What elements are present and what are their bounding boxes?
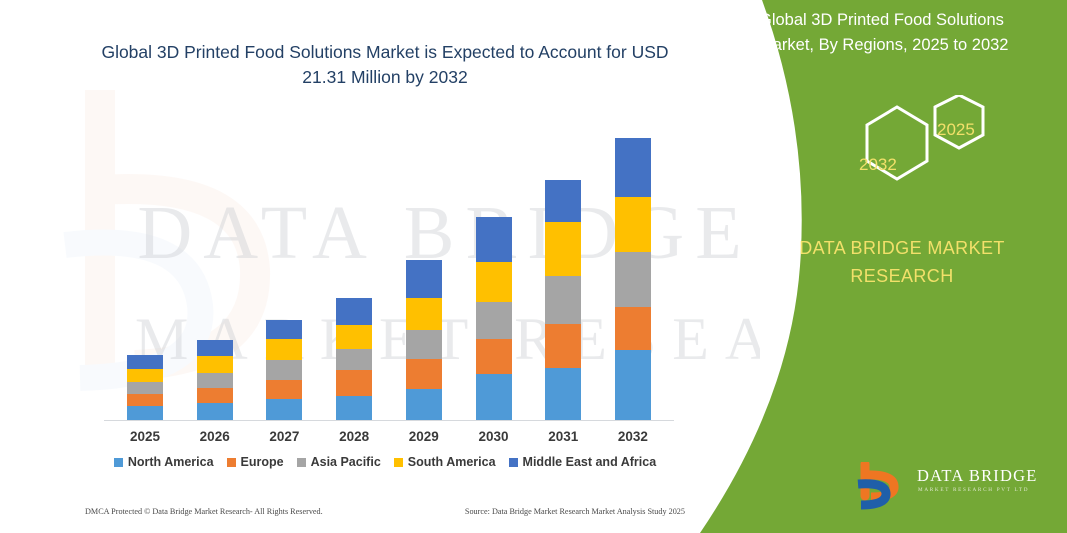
panel-content: Global 3D Printed Food Solutions Market,… <box>737 0 1067 533</box>
chart-panel: DATA BRIDGE MARKET RESEARCH Global 3D Pr… <box>0 0 760 533</box>
bar-segment-europe <box>545 324 581 368</box>
bar-segment-asia-pacific <box>406 330 442 359</box>
bar-segment-north-america <box>406 389 442 420</box>
chart-legend: North AmericaEuropeAsia PacificSouth Ame… <box>90 455 680 469</box>
bar-segment-south-america <box>615 197 651 252</box>
legend-item-middle-east-and-africa[interactable]: Middle East and Africa <box>509 455 657 469</box>
bar-column-2032 <box>602 110 664 420</box>
bar-segment-north-america <box>336 396 372 420</box>
logo-subtitle: MARKET RESEARCH PVT LTD <box>918 487 1029 493</box>
legend-swatch-icon <box>394 458 403 467</box>
chart-plot-area <box>104 110 674 420</box>
brand-name: DATA BRIDGE MARKET RESEARCH <box>752 235 1052 291</box>
bar-column-2028 <box>323 110 385 420</box>
legend-swatch-icon <box>509 458 518 467</box>
x-axis-label-2029: 2029 <box>393 426 455 450</box>
panel-title: Global 3D Printed Food Solutions Market,… <box>759 8 1049 58</box>
bar-segment-europe <box>127 394 163 406</box>
stacked-bar <box>336 298 372 420</box>
stacked-bar <box>615 138 651 420</box>
legend-label: South America <box>408 455 496 469</box>
bar-segment-europe <box>476 339 512 374</box>
bar-segment-north-america <box>197 403 233 420</box>
bar-segment-south-america <box>545 222 581 276</box>
x-axis-label-2028: 2028 <box>323 426 385 450</box>
bar-segment-europe <box>266 380 302 399</box>
footer: DMCA Protected © Data Bridge Market Rese… <box>85 507 685 516</box>
bar-segment-north-america <box>545 368 581 420</box>
legend-swatch-icon <box>114 458 123 467</box>
stacked-bar <box>127 355 163 420</box>
bar-segment-middle-east-and-africa <box>197 340 233 356</box>
legend-swatch-icon <box>227 458 236 467</box>
bar-segment-europe <box>615 307 651 350</box>
stacked-bar <box>266 320 302 420</box>
x-axis-line <box>104 420 674 421</box>
stacked-bar <box>476 217 512 420</box>
bar-column-2027 <box>253 110 315 420</box>
bar-column-2029 <box>393 110 455 420</box>
legend-item-north-america[interactable]: North America <box>114 455 214 469</box>
bar-segment-europe <box>406 359 442 389</box>
stacked-bar <box>197 340 233 420</box>
x-axis-labels: 20252026202720282029203020312032 <box>104 426 674 450</box>
data-bridge-logo: DATA BRIDGE MARKET RESEARCH PVT LTD <box>855 460 1055 512</box>
stacked-bar <box>406 260 442 420</box>
bar-segment-middle-east-and-africa <box>545 180 581 222</box>
logo-mark-icon <box>855 462 911 510</box>
bar-segment-middle-east-and-africa <box>615 138 651 197</box>
bar-segment-middle-east-and-africa <box>476 217 512 262</box>
x-axis-label-2030: 2030 <box>463 426 525 450</box>
bar-segment-south-america <box>406 298 442 330</box>
bar-segment-asia-pacific <box>266 360 302 380</box>
x-axis-label-2025: 2025 <box>114 426 176 450</box>
logo-wordmark: DATA BRIDGE <box>917 466 1038 486</box>
hexagon-label-2025: 2025 <box>937 120 975 140</box>
bar-chart <box>104 110 674 420</box>
legend-item-asia-pacific[interactable]: Asia Pacific <box>297 455 381 469</box>
bar-segment-middle-east-and-africa <box>336 298 372 325</box>
bar-segment-middle-east-and-africa <box>406 260 442 298</box>
bar-column-2030 <box>463 110 525 420</box>
x-axis-label-2031: 2031 <box>532 426 594 450</box>
legend-item-europe[interactable]: Europe <box>227 455 284 469</box>
bar-segment-north-america <box>615 350 651 420</box>
hexagon-group: 2032 2025 <box>827 95 1017 215</box>
hexagon-shapes <box>827 95 1017 215</box>
bar-segment-middle-east-and-africa <box>266 320 302 339</box>
footer-source: Source: Data Bridge Market Research Mark… <box>465 507 685 516</box>
bar-column-2025 <box>114 110 176 420</box>
legend-item-south-america[interactable]: South America <box>394 455 496 469</box>
bar-segment-asia-pacific <box>615 252 651 307</box>
footer-copyright: DMCA Protected © Data Bridge Market Rese… <box>85 507 323 516</box>
x-axis-label-2027: 2027 <box>253 426 315 450</box>
bar-segment-europe <box>197 388 233 403</box>
legend-label: Europe <box>241 455 284 469</box>
bar-segment-asia-pacific <box>197 373 233 388</box>
hexagon-label-2032: 2032 <box>859 155 897 175</box>
bar-segment-middle-east-and-africa <box>127 355 163 369</box>
stacked-bar <box>545 180 581 420</box>
x-axis-label-2032: 2032 <box>602 426 664 450</box>
legend-label: Asia Pacific <box>311 455 381 469</box>
page-title: Global 3D Printed Food Solutions Market … <box>80 40 690 91</box>
bar-column-2031 <box>532 110 594 420</box>
bar-segment-asia-pacific <box>336 349 372 370</box>
bar-segment-south-america <box>336 325 372 349</box>
bar-segment-europe <box>336 370 372 396</box>
bar-segment-north-america <box>476 374 512 420</box>
bar-segment-south-america <box>266 339 302 360</box>
bar-segment-asia-pacific <box>127 382 163 394</box>
legend-label: North America <box>128 455 214 469</box>
x-axis-label-2026: 2026 <box>184 426 246 450</box>
legend-swatch-icon <box>297 458 306 467</box>
bar-segment-south-america <box>127 369 163 382</box>
bar-segment-north-america <box>127 406 163 420</box>
bar-column-2026 <box>184 110 246 420</box>
bar-segment-south-america <box>476 262 512 302</box>
legend-label: Middle East and Africa <box>523 455 657 469</box>
bar-segment-asia-pacific <box>545 276 581 324</box>
bar-segment-asia-pacific <box>476 302 512 339</box>
bar-segment-south-america <box>197 356 233 373</box>
bar-segment-north-america <box>266 399 302 420</box>
